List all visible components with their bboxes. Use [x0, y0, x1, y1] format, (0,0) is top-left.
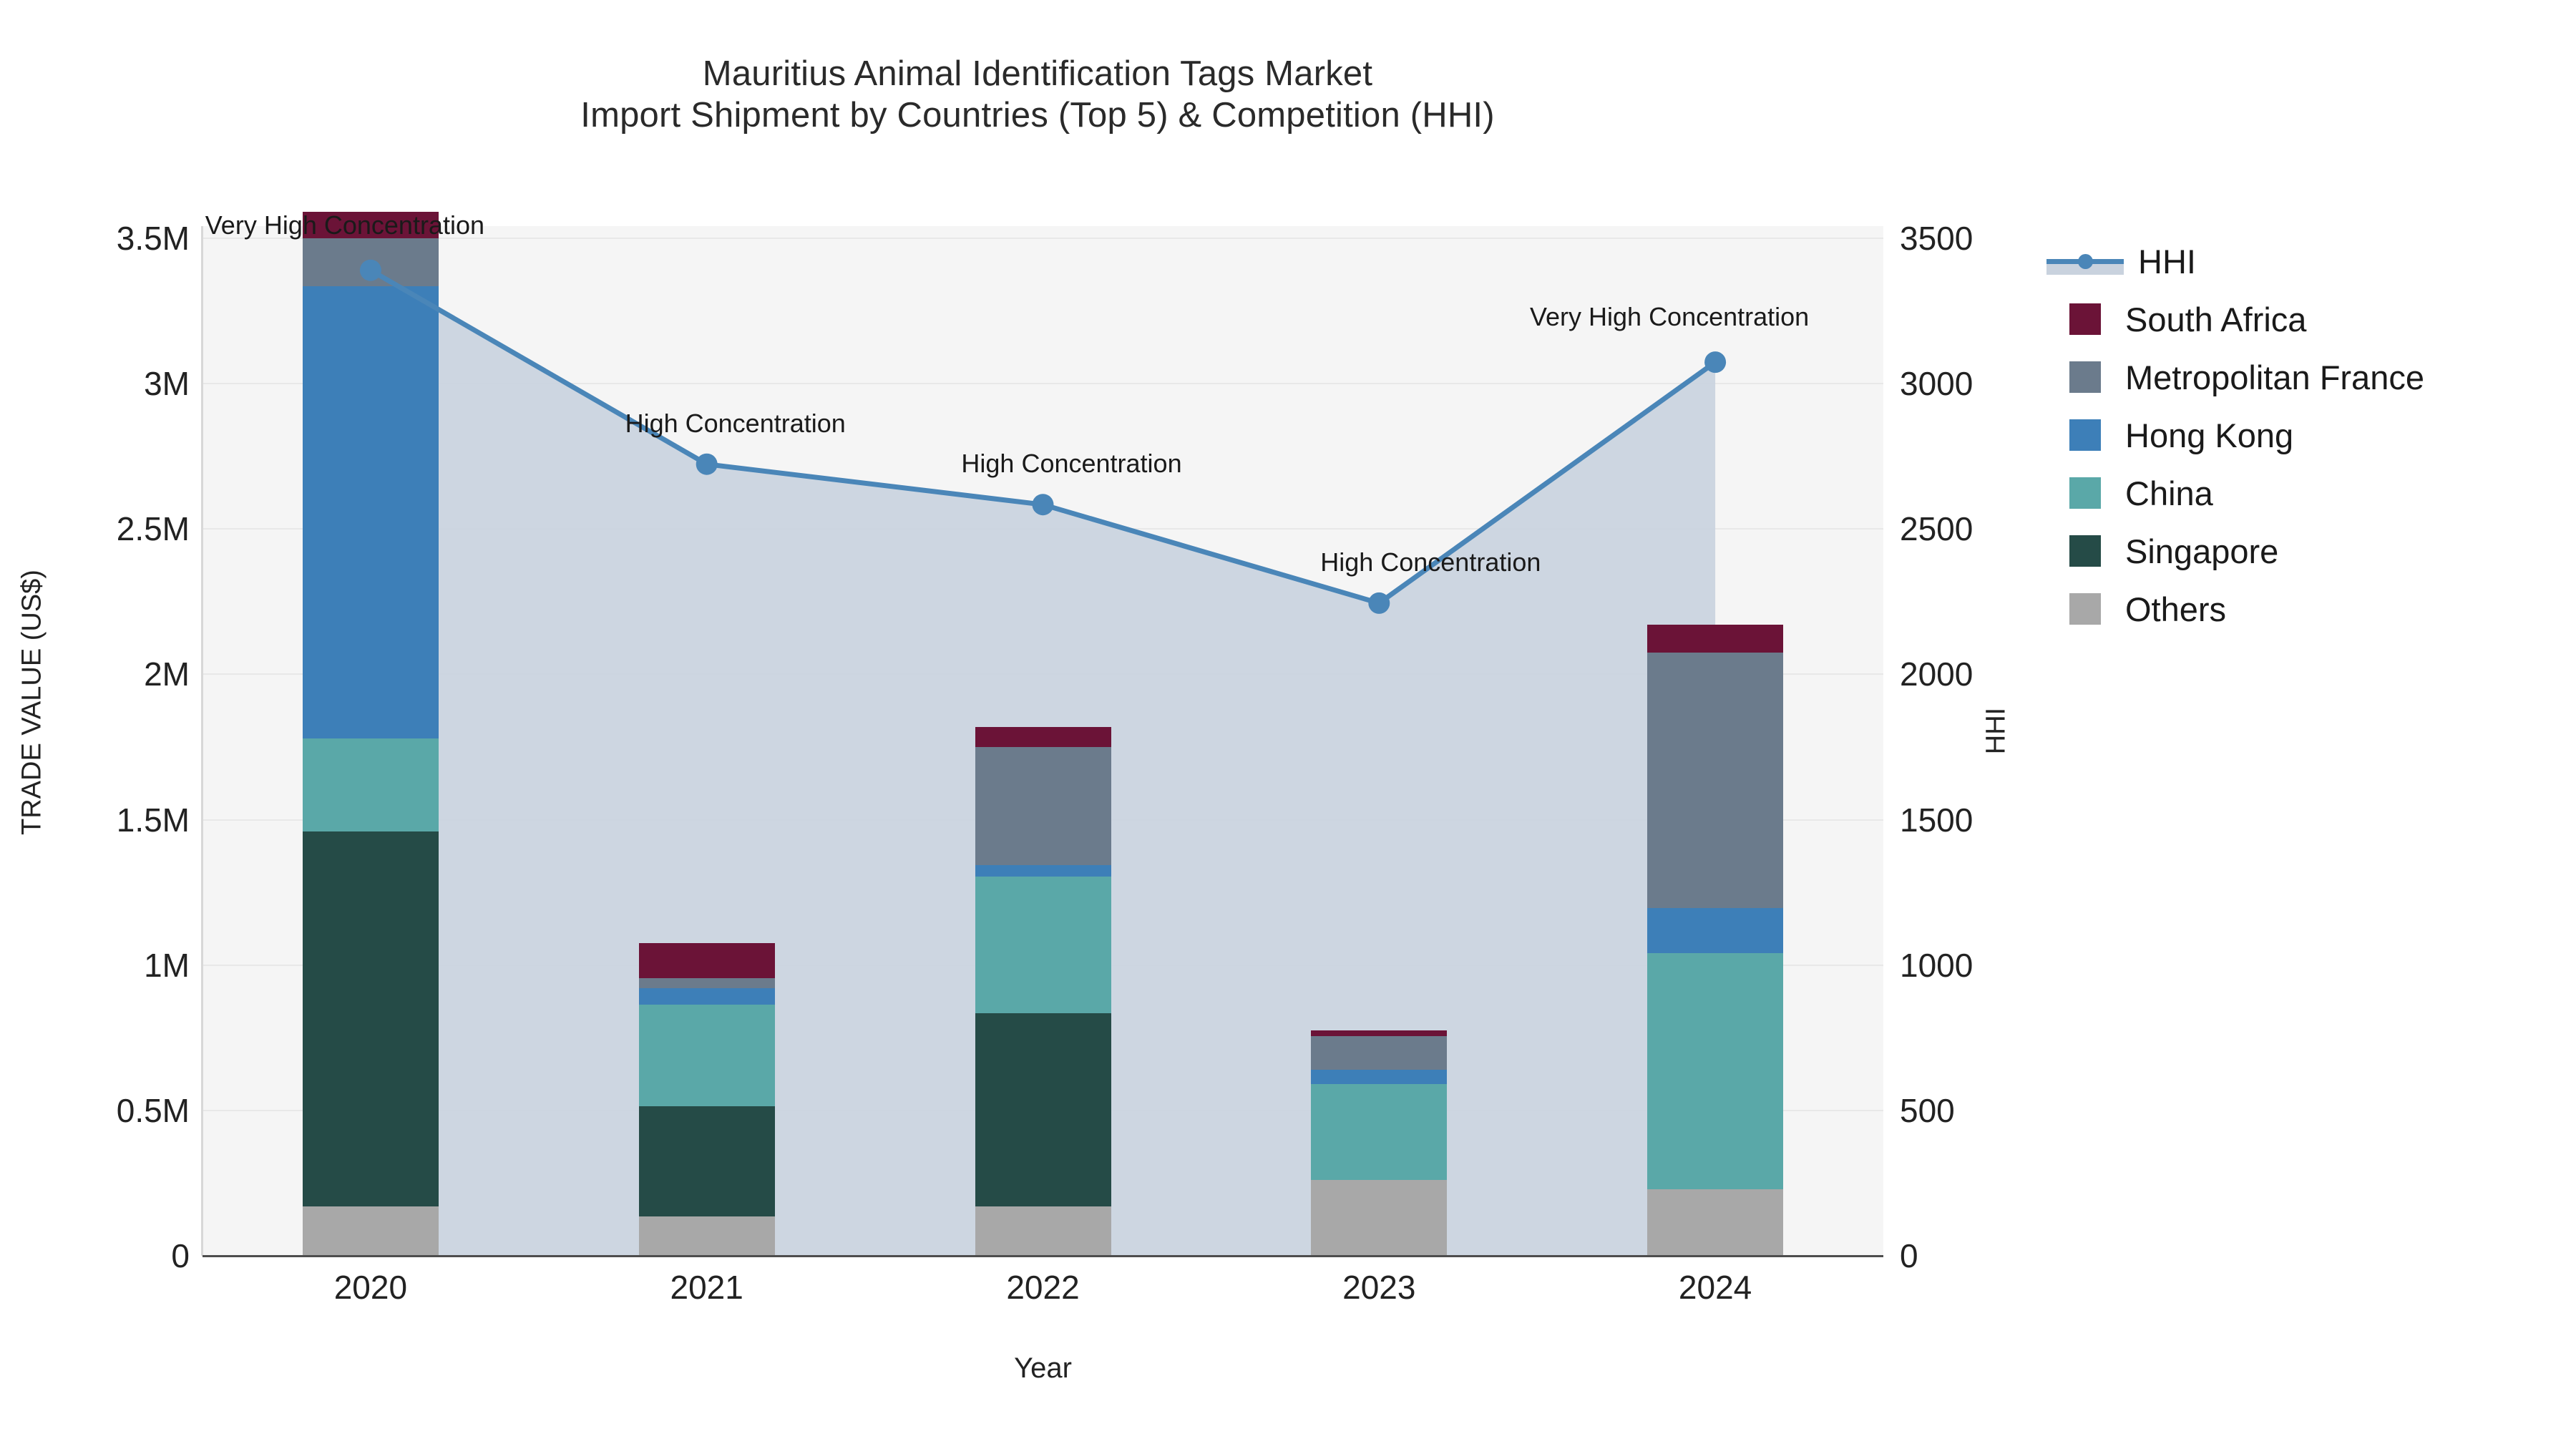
bar-segment[interactable] — [1647, 908, 1783, 953]
bar-segment[interactable] — [639, 943, 775, 978]
bar-segment[interactable] — [975, 727, 1111, 747]
x-axis-tick-label: 2023 — [1342, 1268, 1415, 1307]
y-axis-left-title: TRADE VALUE (US$) — [17, 502, 48, 903]
bar-segment[interactable] — [975, 865, 1111, 877]
bar-segment[interactable] — [975, 877, 1111, 1013]
bar-segment[interactable] — [1647, 653, 1783, 909]
legend-swatch — [2069, 303, 2101, 335]
legend-swatch — [2069, 477, 2101, 509]
legend-swatch — [2069, 593, 2101, 625]
hhi-annotation: Very High Concentration — [1530, 302, 1809, 332]
legend: HHISouth AfricaMetropolitan FranceHong K… — [2046, 236, 2424, 642]
x-axis-tick-label: 2022 — [1006, 1268, 1079, 1307]
legend-line-icon — [2046, 245, 2124, 277]
bar-segment[interactable] — [1647, 625, 1783, 653]
x-axis-title: Year — [203, 1352, 1883, 1385]
legend-item-label: Hong Kong — [2125, 416, 2293, 455]
y-axis-left-tick-label: 0 — [4, 1236, 190, 1275]
chart-title-line-2: Import Shipment by Countries (Top 5) & C… — [0, 95, 2075, 137]
bar-segment[interactable] — [1311, 1070, 1447, 1084]
bar-segment[interactable] — [303, 738, 439, 831]
legend-item-south-africa[interactable]: South Africa — [2046, 294, 2424, 344]
chart-canvas: Mauritius Animal Identification Tags Mar… — [0, 0, 2576, 1449]
legend-swatch — [2069, 419, 2101, 451]
y-axis-right-title: HHI — [1981, 624, 2012, 839]
bar-segment[interactable] — [1311, 1180, 1447, 1256]
legend-item-label: Singapore — [2125, 532, 2278, 571]
legend-item-others[interactable]: Others — [2046, 584, 2424, 634]
legend-item-singapore[interactable]: Singapore — [2046, 526, 2424, 576]
bar-stack-2022[interactable] — [975, 226, 1111, 1256]
bar-stack-2020[interactable] — [303, 226, 439, 1256]
bar-stack-2021[interactable] — [639, 226, 775, 1256]
bar-segment[interactable] — [639, 1005, 775, 1106]
x-axis-tick-label: 2024 — [1679, 1268, 1752, 1307]
legend-item-label: Metropolitan France — [2125, 358, 2424, 397]
legend-item-label: Others — [2125, 590, 2226, 629]
x-axis-tick-label: 2021 — [670, 1268, 743, 1307]
bar-stack-2024[interactable] — [1647, 226, 1783, 1256]
legend-swatch — [2069, 535, 2101, 567]
bar-segment[interactable] — [1311, 1030, 1447, 1036]
x-axis-tick-label: 2020 — [334, 1268, 407, 1307]
x-axis-line — [203, 1255, 1883, 1257]
chart-title-line-1: Mauritius Animal Identification Tags Mar… — [0, 54, 2075, 95]
y-axis-left-line — [201, 226, 203, 1256]
bar-segment[interactable] — [975, 1206, 1111, 1256]
bar-stack-2023[interactable] — [1311, 226, 1447, 1256]
legend-item-label: HHI — [2138, 242, 2196, 281]
hhi-annotation: High Concentration — [625, 409, 846, 439]
y-axis-right-tick-label: 0 — [1900, 1236, 2107, 1275]
bar-segment[interactable] — [975, 1013, 1111, 1206]
y-axis-right-tick-label: 1000 — [1900, 946, 2107, 985]
y-axis-left-tick-label: 3M — [4, 364, 190, 403]
legend-item-hong-kong[interactable]: Hong Kong — [2046, 410, 2424, 460]
hhi-annotation: Very High Concentration — [205, 210, 484, 240]
hhi-annotation: High Concentration — [1320, 547, 1541, 577]
bar-segment[interactable] — [303, 831, 439, 1206]
y-axis-right-tick-label: 500 — [1900, 1091, 2107, 1130]
legend-item-metropolitan-france[interactable]: Metropolitan France — [2046, 352, 2424, 402]
bar-segment[interactable] — [303, 286, 439, 738]
bar-segment[interactable] — [639, 1216, 775, 1256]
bar-segment[interactable] — [639, 978, 775, 988]
y-axis-left-tick-label: 0.5M — [4, 1091, 190, 1130]
y-axis-left-tick-label: 1M — [4, 946, 190, 985]
bar-segment[interactable] — [303, 238, 439, 286]
bar-segment[interactable] — [1311, 1084, 1447, 1180]
bar-segment[interactable] — [639, 988, 775, 1004]
y-axis-left-tick-label: 3.5M — [4, 219, 190, 258]
legend-swatch — [2069, 361, 2101, 393]
legend-item-china[interactable]: China — [2046, 468, 2424, 518]
bar-segment[interactable] — [1647, 1189, 1783, 1256]
legend-item-hhi[interactable]: HHI — [2046, 236, 2424, 286]
bar-segment[interactable] — [303, 1206, 439, 1256]
legend-item-label: South Africa — [2125, 300, 2306, 339]
bar-segment[interactable] — [975, 747, 1111, 865]
chart-title: Mauritius Animal Identification Tags Mar… — [0, 54, 2075, 137]
hhi-annotation: High Concentration — [961, 449, 1181, 479]
legend-item-label: China — [2125, 474, 2213, 513]
legend-line-marker — [2078, 254, 2093, 269]
bar-segment[interactable] — [1311, 1036, 1447, 1070]
bar-segment[interactable] — [1647, 953, 1783, 1189]
bar-segment[interactable] — [639, 1106, 775, 1216]
